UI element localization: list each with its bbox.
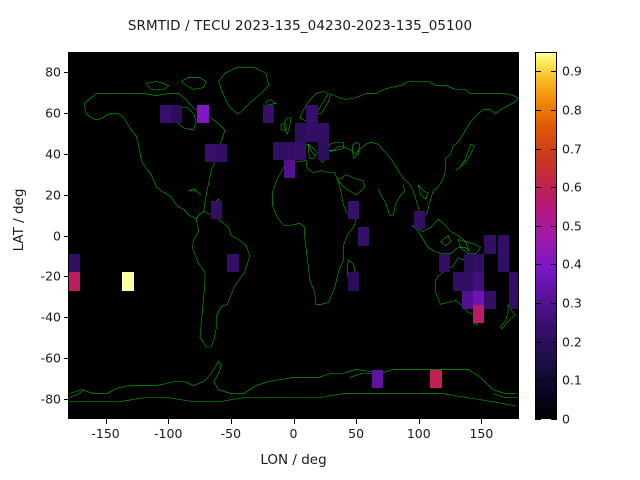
colorbar-tick-mark	[535, 419, 541, 420]
x-tick-label: 100	[407, 426, 431, 441]
x-tick-mark	[356, 419, 357, 424]
data-cell	[273, 142, 284, 160]
colorbar-tick-label: 0.6	[562, 180, 582, 195]
data-cell	[216, 144, 227, 162]
x-tick-label: 150	[469, 426, 493, 441]
colorbar-tick-label: 0.8	[562, 102, 582, 117]
x-tick-mark	[419, 419, 420, 424]
map-plot-area	[68, 52, 519, 419]
data-cell	[358, 227, 369, 245]
data-cell	[509, 291, 519, 309]
colorbar-tick-label: 0.2	[562, 334, 582, 349]
colorbar-tick-mark	[551, 380, 557, 381]
data-cell	[295, 123, 306, 141]
x-tick-label: -150	[91, 426, 119, 441]
data-cell	[205, 144, 216, 162]
colorbar-tick-label: 0.9	[562, 64, 582, 79]
x-tick-label: -100	[154, 426, 182, 441]
data-cell	[509, 272, 519, 290]
x-tick-label: -50	[221, 426, 241, 441]
x-tick-mark	[168, 419, 169, 424]
colorbar-tick-mark	[551, 71, 557, 72]
y-tick-mark	[64, 399, 69, 400]
y-tick-label: -20	[41, 269, 61, 284]
colorbar-tick-label: 0.7	[562, 141, 582, 156]
y-tick-label: 80	[45, 65, 61, 80]
colorbar-tick-mark	[535, 71, 541, 72]
data-cell	[284, 142, 295, 160]
colorbar-tick-mark	[535, 149, 541, 150]
y-tick-mark	[64, 236, 69, 237]
y-tick-label: 40	[45, 146, 61, 161]
y-tick-label: 0	[53, 228, 61, 243]
data-cell	[348, 272, 359, 290]
data-cell-layer	[69, 53, 518, 418]
y-tick-label: -40	[41, 310, 61, 325]
colorbar-tick-mark	[535, 380, 541, 381]
figure-canvas: SRMTID / TECU 2023-135_04230-2023-135_05…	[0, 0, 640, 480]
data-cell	[453, 272, 464, 290]
y-axis-label: LAT / deg	[11, 175, 27, 265]
y-tick-mark	[64, 154, 69, 155]
data-cell	[348, 201, 359, 219]
data-cell	[462, 291, 473, 309]
data-cell	[473, 305, 484, 323]
y-tick-mark	[64, 358, 69, 359]
data-cell	[295, 142, 306, 160]
data-cell	[171, 105, 182, 123]
data-cell	[69, 272, 80, 290]
data-cell	[430, 370, 441, 388]
data-cell	[498, 235, 509, 253]
colorbar-tick-mark	[535, 187, 541, 188]
x-tick-mark	[481, 419, 482, 424]
colorbar-tick-label: 0.1	[562, 373, 582, 388]
data-cell	[263, 105, 274, 123]
colorbar-tick-mark	[535, 226, 541, 227]
colorbar-tick-mark	[551, 342, 557, 343]
y-tick-mark	[64, 72, 69, 73]
colorbar-tick-label: 0.3	[562, 296, 582, 311]
data-cell	[197, 105, 208, 123]
data-cell	[306, 123, 317, 141]
colorbar-tick-mark	[535, 110, 541, 111]
colorbar-tick-labels: 00.10.20.30.40.50.60.70.80.9	[562, 52, 632, 419]
colorbar-tick-label: 0.4	[562, 257, 582, 272]
data-cell	[414, 211, 425, 229]
x-tick-label: 0	[290, 426, 298, 441]
colorbar-ticks	[535, 52, 557, 419]
data-cell	[498, 254, 509, 272]
y-tick-label: -80	[41, 391, 61, 406]
x-tick-mark	[294, 419, 295, 424]
y-tick-mark	[64, 195, 69, 196]
data-cell	[484, 291, 495, 309]
data-cell	[284, 160, 295, 178]
chart-title: SRMTID / TECU 2023-135_04230-2023-135_05…	[0, 18, 600, 34]
data-cell	[306, 105, 317, 123]
colorbar-tick-mark	[551, 149, 557, 150]
data-cell	[439, 254, 450, 272]
data-cell	[227, 254, 238, 272]
y-tick-mark	[64, 317, 69, 318]
colorbar-tick-mark	[551, 226, 557, 227]
y-tick-mark	[64, 276, 69, 277]
x-tick-label: 50	[348, 426, 364, 441]
colorbar-tick-label: 0.5	[562, 218, 582, 233]
data-cell	[211, 201, 222, 219]
data-cell	[122, 272, 133, 290]
y-tick-label: 20	[45, 187, 61, 202]
x-tick-mark	[231, 419, 232, 424]
colorbar-tick-mark	[551, 303, 557, 304]
data-cell	[318, 123, 329, 141]
colorbar-tick-mark	[535, 264, 541, 265]
colorbar-tick-mark	[535, 303, 541, 304]
x-axis-label: LON / deg	[68, 452, 519, 468]
data-cell	[473, 272, 484, 290]
colorbar-tick-label: 0	[562, 412, 570, 427]
data-cell	[372, 370, 383, 388]
data-cell	[484, 235, 495, 253]
colorbar-tick-mark	[551, 110, 557, 111]
data-cell	[160, 105, 171, 123]
colorbar-tick-mark	[535, 342, 541, 343]
colorbar-tick-mark	[551, 264, 557, 265]
y-tick-label: -60	[41, 350, 61, 365]
colorbar-tick-mark	[551, 419, 557, 420]
y-tick-label: 60	[45, 106, 61, 121]
data-cell	[69, 254, 80, 272]
x-tick-mark	[106, 419, 107, 424]
x-axis-tick-labels: -150-100-50050100150	[0, 426, 640, 446]
y-tick-mark	[64, 113, 69, 114]
data-cell	[473, 254, 484, 272]
colorbar-tick-mark	[551, 187, 557, 188]
data-cell	[318, 142, 329, 160]
